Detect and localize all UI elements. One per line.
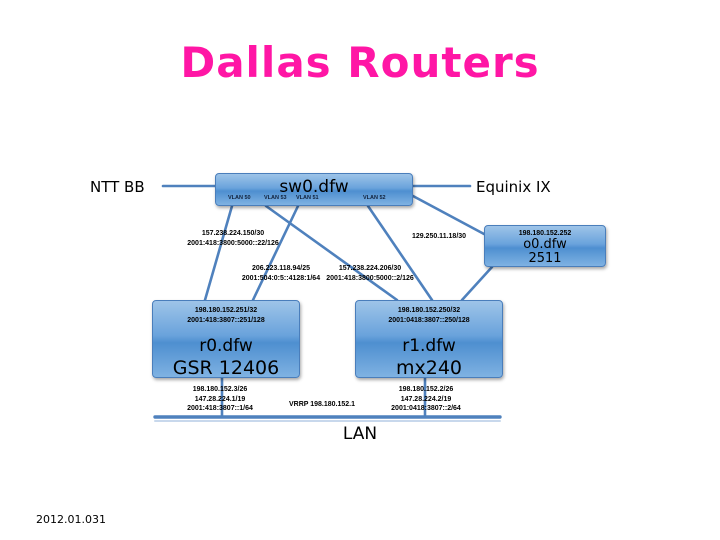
core-link-ipv4: 157.238.224.206/30 [316,264,424,274]
r1-loopback-ipv6: 2001:0418:3807::250/128 [356,316,502,326]
lan-left-line1: 198.180.152.3/26 [160,385,280,395]
lan-right-line1: 198.180.152.2/26 [365,385,487,395]
lan-right-line2: 147.28.224.2/19 [365,395,487,405]
link-vlan51-to-r0 [253,206,298,300]
node-o0-dfw[interactable]: 198.180.152.252 o0.dfw 2511 [484,225,606,267]
link-sw0-to-o0 [413,196,484,234]
link-o0-to-r1 [462,267,492,300]
vlan-label-row: VLAN 50 VLAN 53 VLAN 51 VLAN 52 [216,194,412,203]
annotation-ix-peering: 206.223.118.94/25 2001:504:0:5::4128:1/6… [235,264,327,283]
label-ntt-bb: NTT BB [90,178,145,196]
node-r1-dfw[interactable]: 198.180.152.250/32 2001:0418:3807::250/1… [355,300,503,378]
lan-left-line2: 147.28.224.1/19 [160,395,280,405]
core-link-ipv6: 2001:418:3800:5000::2/126 [316,274,424,284]
slide-footer-date: 2012.01.031 [36,513,106,526]
r1-loopback-ipv4: 198.180.152.250/32 [356,306,502,316]
r0-loopback-ipv4: 198.180.152.251/32 [153,306,299,316]
ntt-uplink-ipv6: 2001:418:3800:5000::22/126 [168,239,298,249]
label-lan: LAN [0,424,720,444]
annotation-oob-link: 129.250.11.18/30 [396,232,482,242]
label-equinix-ix: Equinix IX [476,178,551,196]
r0-model: GSR 12406 [153,357,299,379]
o0-name: o0.dfw [485,238,605,252]
lan-left-line3: 2001:418:3807::1/64 [160,404,280,414]
annotation-ntt-uplink: 157.238.224.150/30 2001:418:3800:5000::2… [168,229,298,248]
vlan-label-51: VLAN 51 [296,194,319,202]
ix-peering-ipv4: 206.223.118.94/25 [235,264,327,274]
r1-model: mx240 [356,357,502,379]
node-r0-dfw[interactable]: 198.180.152.251/32 2001:418:3807::251/12… [152,300,300,378]
vlan-label-53: VLAN 53 [264,194,287,202]
annotation-vrrp: VRRP 198.180.152.1 [272,400,372,410]
vlan-label-52: VLAN 52 [363,194,386,202]
link-vlan50-to-r0 [205,206,232,300]
slide-canvas: Dallas Routers [0,0,720,540]
annotation-lan-right: 198.180.152.2/26 147.28.224.2/19 2001:04… [365,385,487,414]
ntt-uplink-ipv4: 157.238.224.150/30 [168,229,298,239]
annotation-lan-left: 198.180.152.3/26 147.28.224.1/19 2001:41… [160,385,280,414]
lan-bus [155,417,500,421]
vlan-label-50: VLAN 50 [228,194,251,202]
lan-right-line3: 2001:0418:3807::2/64 [365,404,487,414]
r0-loopback-ipv6: 2001:418:3807::251/128 [153,316,299,326]
oob-link-ipv4: 129.250.11.18/30 [396,232,482,242]
r0-name: r0.dfw [153,335,299,357]
ix-peering-ipv6: 2001:504:0:5::4128:1/64 [235,274,327,284]
r1-name: r1.dfw [356,335,502,357]
annotation-core-link: 157.238.224.206/30 2001:418:3800:5000::2… [316,264,424,283]
node-sw0-dfw[interactable]: sw0.dfw VLAN 50 VLAN 53 VLAN 51 VLAN 52 [215,173,413,206]
o0-model: 2511 [485,252,605,266]
